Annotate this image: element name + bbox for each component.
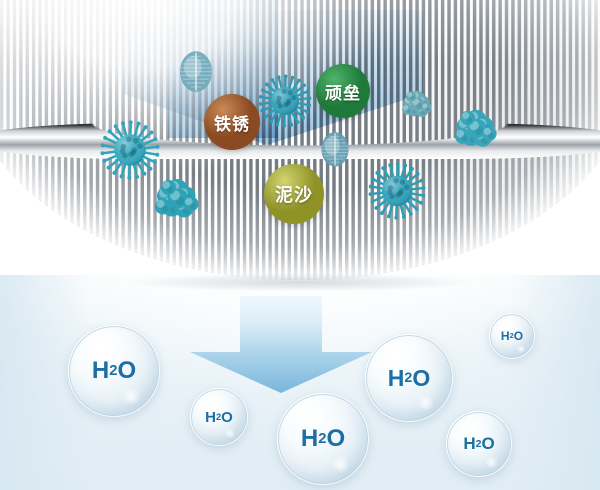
h2o-bubble-b4[interactable]: H2O <box>365 334 453 422</box>
germ-cluster-right-big <box>452 106 500 154</box>
contaminant-tag-label: 铁锈 <box>214 110 250 135</box>
bubble-formula-h: H <box>92 357 109 385</box>
bubble-formula-o: O <box>221 409 233 426</box>
bubble-formula-o: O <box>514 329 523 343</box>
h2o-bubble-b5[interactable]: H2O <box>446 411 512 477</box>
bubble-formula: H2O <box>190 388 248 446</box>
filter-chrome-rim <box>0 123 600 159</box>
h2o-bubble-b3[interactable]: H2O <box>277 393 369 485</box>
scene-root: 铁锈顽垒泥沙 H2O H2O <box>0 0 600 490</box>
bubble-formula-o: O <box>412 365 430 392</box>
germ-spiky-center-top <box>260 76 310 126</box>
bubble-formula: H2O <box>365 334 453 422</box>
contaminant-tag-silt[interactable]: 泥沙 <box>264 164 324 224</box>
filter-drop-shadow <box>60 272 540 298</box>
bubble-formula: H2O <box>68 325 160 417</box>
germ-capsule-mid-right <box>318 131 352 168</box>
bubble-formula-h: H <box>301 425 318 453</box>
germ-spiky-large-left <box>102 122 158 178</box>
germ-cluster-left-low <box>152 175 202 225</box>
bubble-formula-h: H <box>205 409 216 426</box>
bubble-formula-o: O <box>117 357 136 385</box>
downward-flow-arrow <box>186 296 376 396</box>
bubble-formula-o: O <box>481 434 494 454</box>
water-edge-right <box>510 270 600 490</box>
contaminant-tag-label: 顽垒 <box>325 79 361 104</box>
bubble-formula-h: H <box>501 329 510 343</box>
bubble-formula-h: H <box>388 365 405 392</box>
h2o-bubble-b6[interactable]: H2O <box>489 313 535 359</box>
contaminant-tag-rust[interactable]: 铁锈 <box>204 94 260 150</box>
bubble-formula: H2O <box>277 393 369 485</box>
bubble-formula: H2O <box>489 313 535 359</box>
contaminant-tag-scale[interactable]: 顽垒 <box>316 64 370 118</box>
germ-spiky-right-lower <box>370 164 424 218</box>
h2o-bubble-b2[interactable]: H2O <box>190 388 248 446</box>
contaminant-tag-label: 泥沙 <box>275 181 313 207</box>
germ-cluster-right-small <box>400 88 434 122</box>
bubble-formula-h: H <box>463 434 475 454</box>
bubble-formula-o: O <box>326 425 345 453</box>
bubble-formula: H2O <box>446 411 512 477</box>
germ-capsule-top-left <box>176 50 216 93</box>
h2o-bubble-b1[interactable]: H2O <box>68 325 160 417</box>
